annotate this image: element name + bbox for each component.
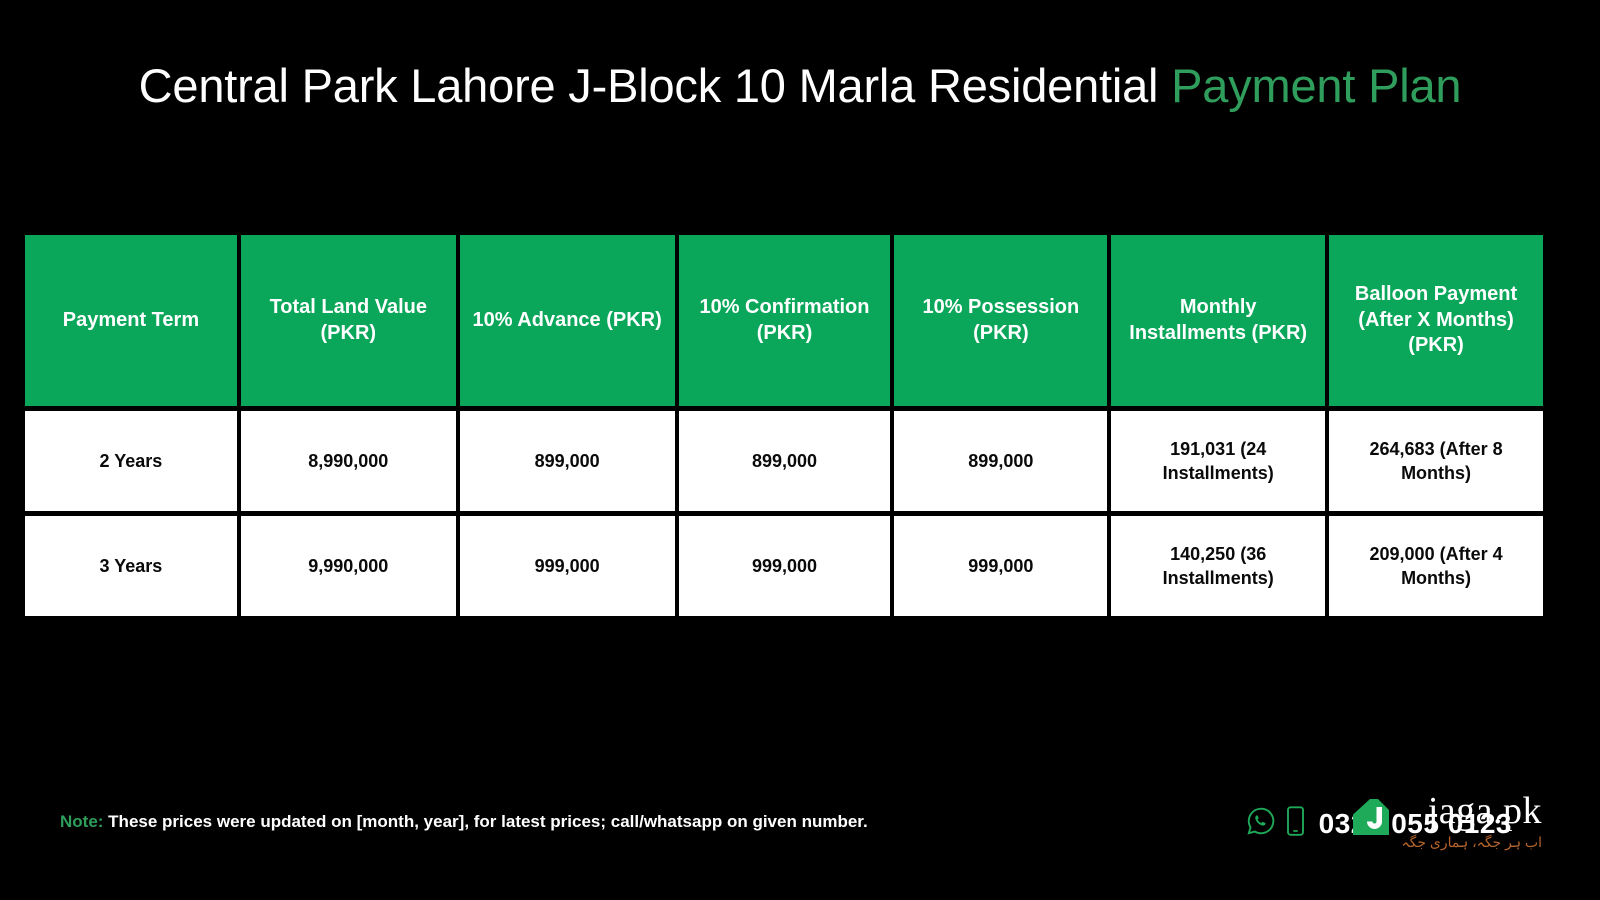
column-header-confirmation: 10% Confirmation (PKR) [679, 235, 891, 406]
cell-balloon-payment: 264,683 (After 8 Months) [1329, 411, 1543, 511]
payment-plan-infographic: Central Park Lahore J-Block 10 Marla Res… [0, 0, 1600, 900]
column-header-advance: 10% Advance (PKR) [460, 235, 675, 406]
jaga-house-logo-icon [1349, 795, 1393, 844]
footer-note-label: Note: [60, 812, 103, 831]
column-header-monthly-installments: Monthly Installments (PKR) [1111, 235, 1325, 406]
whatsapp-icon[interactable] [1246, 806, 1276, 841]
brand-name: jaga.pk [1428, 792, 1542, 830]
column-header-possession: 10% Possession (PKR) [894, 235, 1107, 406]
table-header-row: Payment Term Total Land Value (PKR) 10% … [25, 235, 1543, 406]
column-header-total-land-value: Total Land Value (PKR) [241, 235, 456, 406]
cell-total-land-value: 8,990,000 [241, 411, 456, 511]
brand-logo-block[interactable]: jaga.pk اب ہر جگہ، ہماری جگہ [1349, 792, 1542, 851]
column-header-balloon-payment: Balloon Payment (After X Months) (PKR) [1329, 235, 1543, 406]
cell-possession: 899,000 [894, 411, 1107, 511]
page-title: Central Park Lahore J-Block 10 Marla Res… [60, 52, 1540, 120]
cell-advance: 999,000 [460, 516, 675, 616]
footer-note: Note: These prices were updated on [mont… [60, 812, 868, 832]
table-row: 3 Years 9,990,000 999,000 999,000 999,00… [25, 516, 1543, 616]
cell-advance: 899,000 [460, 411, 675, 511]
cell-payment-term: 3 Years [25, 516, 237, 616]
cell-balloon-payment: 209,000 (After 4 Months) [1329, 516, 1543, 616]
table-row: 2 Years 8,990,000 899,000 899,000 899,00… [25, 411, 1543, 511]
cell-confirmation: 999,000 [679, 516, 891, 616]
mobile-phone-icon[interactable] [1286, 806, 1305, 841]
cell-possession: 999,000 [894, 516, 1107, 616]
payment-plan-table: Payment Term Total Land Value (PKR) 10% … [25, 235, 1543, 616]
page-title-main: Central Park Lahore J-Block 10 Marla Res… [139, 59, 1172, 112]
cell-confirmation: 899,000 [679, 411, 891, 511]
cell-total-land-value: 9,990,000 [241, 516, 456, 616]
page-title-accent: Payment Plan [1171, 59, 1461, 112]
cell-monthly-installments: 191,031 (24 Installments) [1111, 411, 1325, 511]
brand-tagline: اب ہر جگہ، ہماری جگہ [1401, 834, 1542, 851]
cell-payment-term: 2 Years [25, 411, 237, 511]
column-header-payment-term: Payment Term [25, 235, 237, 406]
cell-monthly-installments: 140,250 (36 Installments) [1111, 516, 1325, 616]
footer-note-text: These prices were updated on [month, yea… [103, 812, 867, 831]
